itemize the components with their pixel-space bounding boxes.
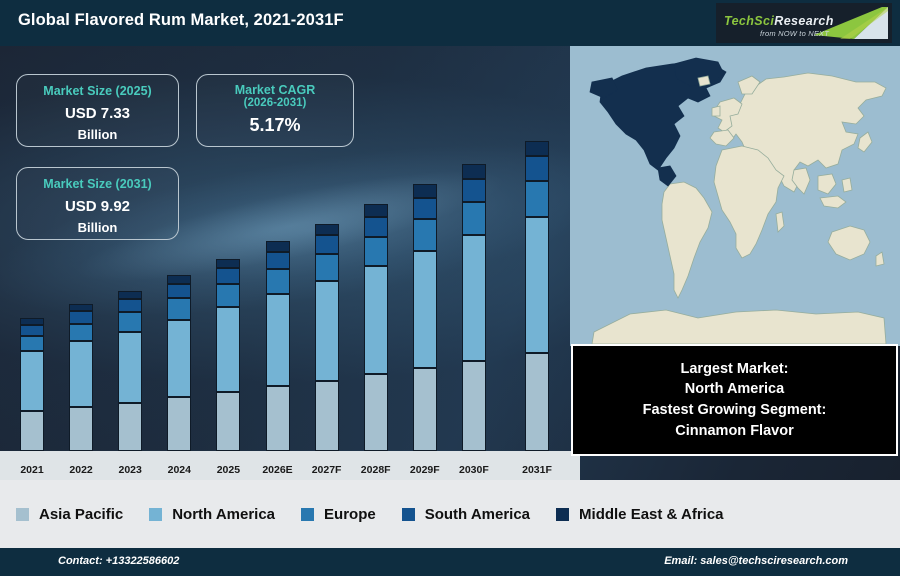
legend-swatch [149,508,162,521]
legend-item[interactable]: Europe [301,506,402,523]
x-axis-label: 2023 [103,464,157,476]
legend-item[interactable]: Asia Pacific [16,506,149,523]
world-map [570,46,900,346]
legend-item[interactable]: North America [149,506,301,523]
x-axis-label: 2026E [251,464,305,476]
x-axis-label: 2028F [349,464,403,476]
logo-brand-tech: TechSci [724,14,774,28]
world-map-svg [570,46,900,346]
x-axis-label: 2022 [54,464,108,476]
legend-label: North America [172,506,275,523]
footer-email: Email: sales@techsciresearch.com [664,555,848,567]
legend-item[interactable]: Middle East & Africa [556,506,749,523]
map-land-philippines [842,178,852,192]
x-axis-label: 2024 [152,464,206,476]
legend-label: South America [425,506,530,523]
callout-line-2: North America [685,379,784,400]
x-axis-label: 2030F [447,464,501,476]
map-land-antarctica [592,310,886,344]
legend-swatch [556,508,569,521]
legend-label: Asia Pacific [39,506,123,523]
legend-label: Europe [324,506,376,523]
logo-wordmark: TechSciResearch [724,15,834,28]
page-title: Global Flavored Rum Market, 2021-2031F [18,11,344,30]
footer-bar: Contact: +13322586602 Email: sales@techs… [0,548,900,576]
callout-line-3: Fastest Growing Segment: [643,400,827,421]
chart-legend: Asia PacificNorth AmericaEuropeSouth Ame… [0,480,900,548]
market-highlights-callout: Largest Market: North America Fastest Gr… [571,344,898,456]
legend-swatch [301,508,314,521]
x-axis-label: 2029F [398,464,452,476]
logo-tagline: from NOW to NEXT [760,29,829,38]
x-axis-label: 2027F [300,464,354,476]
x-axis-label: 2025 [201,464,255,476]
legend-item[interactable]: South America [402,506,556,523]
logo-brand-research: Research [774,14,834,28]
callout-line-4: Cinnamon Flavor [675,421,793,442]
x-axis-label: 2021 [5,464,59,476]
x-axis-label: 2031F [510,464,564,476]
legend-swatch [402,508,415,521]
map-land-iceland [698,76,710,86]
map-land-uk [712,106,720,116]
infographic-canvas: Global Flavored Rum Market, 2021-2031F T… [0,0,900,576]
legend-label: Middle East & Africa [579,506,723,523]
legend-swatch [16,508,29,521]
header-bar: Global Flavored Rum Market, 2021-2031F T… [0,0,900,46]
techsci-research-logo: TechSciResearch from NOW to NEXT [716,3,892,43]
callout-line-1: Largest Market: [681,359,789,380]
footer-contact: Contact: +13322586602 [58,555,179,567]
x-axis-labels: 202120222023202420252026E2027F2028F2029F… [0,46,580,480]
